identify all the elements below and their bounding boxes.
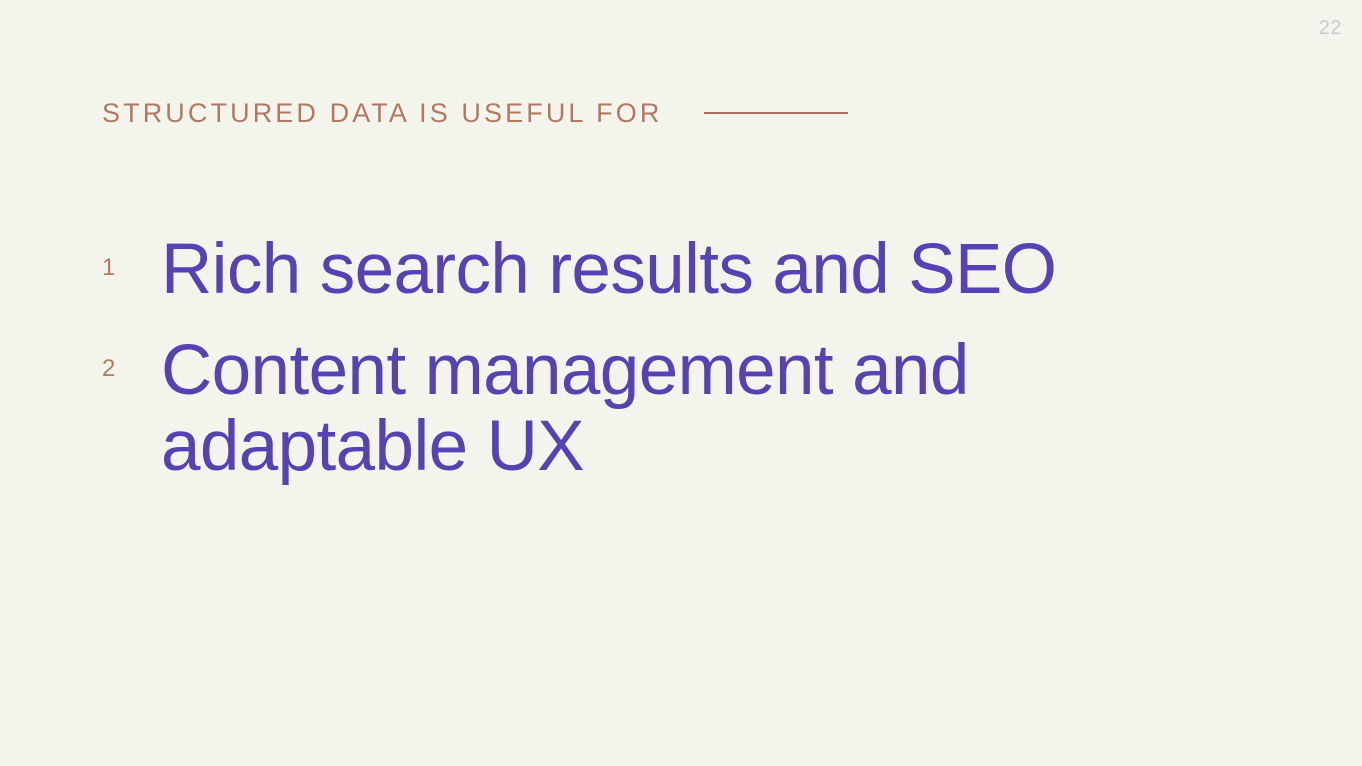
list-item: 1 Rich search results and SEO: [102, 232, 1242, 307]
list-item-label: Content management and adaptable UX: [161, 333, 1242, 484]
slide-canvas: 22 Structured data is useful for 1 Rich …: [0, 0, 1362, 766]
horizontal-rule-icon: [704, 112, 848, 114]
list-item: 2 Content management and adaptable UX: [102, 333, 1242, 484]
list-item-number: 1: [102, 232, 161, 280]
slide-header: Structured data is useful for: [102, 96, 848, 130]
list-item-number: 2: [102, 333, 161, 381]
list-item-label: Rich search results and SEO: [161, 232, 1242, 307]
eyebrow-heading: Structured data is useful for: [102, 100, 662, 127]
page-number: 22: [1319, 18, 1342, 38]
numbered-list: 1 Rich search results and SEO 2 Content …: [102, 232, 1242, 484]
